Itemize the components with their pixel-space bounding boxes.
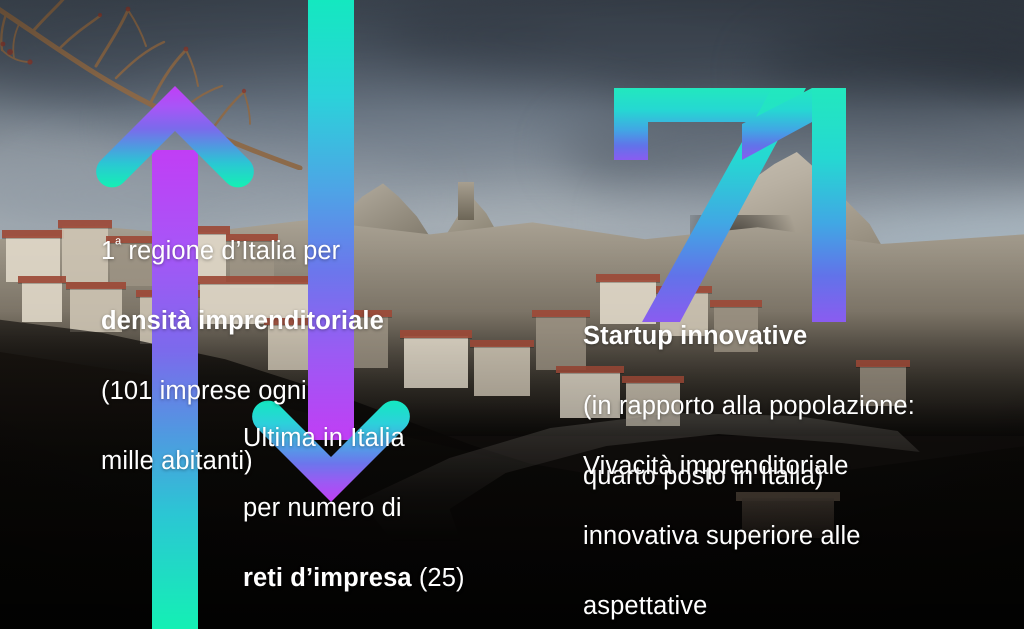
- stat-vivacita-text: Vivacità imprenditoriale innovativa supe…: [583, 414, 983, 624]
- reti-line-3-bold: reti d’impresa: [243, 564, 412, 592]
- vivacita-line-2: innovativa superiore alle: [583, 522, 861, 550]
- density-line-4: mille abitanti): [101, 447, 253, 475]
- reti-line-1: Ultima in Italia: [243, 424, 405, 452]
- reti-line-2: per numero di: [243, 494, 402, 522]
- density-line-2-bold: densità imprenditoriale: [101, 307, 384, 335]
- density-line-1-rest: regione d’Italia per: [121, 237, 340, 265]
- infographic-slide: 1ª regione d’Italia per densità imprendi…: [0, 0, 1024, 629]
- startup-line-1-bold: Startup innovative: [583, 322, 807, 350]
- density-ordinal-number: 1: [101, 237, 115, 265]
- reti-line-3-rest: (25): [412, 564, 465, 592]
- density-line-1: 1ª regione d’Italia per: [101, 237, 340, 265]
- stat-reti-text: Ultima in Italia per numero di reti d’im…: [243, 386, 543, 596]
- vivacita-line-1: Vivacità imprenditoriale: [583, 452, 849, 480]
- vivacita-line-3: aspettative: [583, 592, 707, 620]
